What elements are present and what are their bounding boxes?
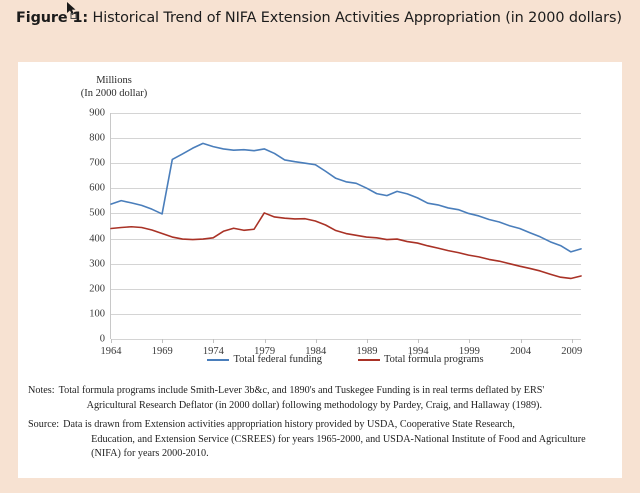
x-axis-tick-mark <box>367 339 368 343</box>
series-line <box>111 143 581 251</box>
figure-panel: Millions (In 2000 dollar) 90080070060050… <box>18 62 622 478</box>
legend-item-label: Total formula programs <box>384 354 484 365</box>
source-label: Source: <box>28 418 59 433</box>
source-line-3: (NIFA) for years 2000-2010. <box>63 447 618 462</box>
notes-block: Notes: Total formula programs include Sm… <box>28 384 618 467</box>
legend-swatch-icon <box>358 359 380 361</box>
x-axis-tick-mark <box>111 339 112 343</box>
x-axis-tick-mark <box>265 339 266 343</box>
plot-area: 9008007006005004003002001000 19641969197… <box>110 113 581 339</box>
notes-line-1: Total formula programs include Smith-Lev… <box>59 385 545 396</box>
line-chart: Millions (In 2000 dollar) 90080070060050… <box>18 62 622 378</box>
y-axis-title: Millions (In 2000 dollar) <box>54 74 174 100</box>
x-axis-tick-mark <box>469 339 470 343</box>
y-axis-tick-label: 0 <box>100 334 105 345</box>
y-axis-title-line1: Millions <box>54 74 174 87</box>
y-axis-tick-label: 100 <box>89 308 105 319</box>
source-row: Source: Data is drawn from Extension act… <box>28 418 618 462</box>
figure-label: Figure 1: <box>16 10 88 26</box>
chart-legend: Total federal fundingTotal formula progr… <box>110 354 581 365</box>
source-text: Data is drawn from Extension activities … <box>63 418 618 462</box>
notes-text: Total formula programs include Smith-Lev… <box>59 384 618 413</box>
x-axis-tick-mark <box>521 339 522 343</box>
y-axis-tick-label: 800 <box>89 133 105 144</box>
notes-row: Notes: Total formula programs include Sm… <box>28 384 618 413</box>
y-axis-tick-label: 500 <box>89 208 105 219</box>
x-axis-tick-mark <box>213 339 214 343</box>
gridline: 0 <box>111 339 581 340</box>
figure-title-text: Historical Trend of NIFA Extension Activ… <box>93 10 622 26</box>
x-axis-tick-mark <box>162 339 163 343</box>
notes-label: Notes: <box>28 384 55 399</box>
y-axis-tick-label: 700 <box>89 158 105 169</box>
figure-title: Figure 1: Historical Trend of NIFA Exten… <box>16 8 628 29</box>
legend-item-label: Total federal funding <box>233 354 321 365</box>
source-line-1: Data is drawn from Extension activities … <box>63 419 515 430</box>
y-axis-tick-label: 400 <box>89 233 105 244</box>
y-axis-tick-label: 300 <box>89 258 105 269</box>
x-axis-tick-mark <box>316 339 317 343</box>
series-line <box>111 213 581 279</box>
y-axis-tick-label: 600 <box>89 183 105 194</box>
series-layer <box>111 113 581 339</box>
y-axis-title-line2: (In 2000 dollar) <box>54 87 174 100</box>
x-axis-tick-mark <box>418 339 419 343</box>
notes-line-2: Agricultural Research Deflator (in 2000 … <box>59 399 618 414</box>
x-axis-tick-mark <box>572 339 573 343</box>
figure-card: Figure 1: Historical Trend of NIFA Exten… <box>0 0 640 493</box>
legend-item[interactable]: Total formula programs <box>358 354 484 365</box>
legend-item[interactable]: Total federal funding <box>207 354 321 365</box>
y-axis-tick-label: 200 <box>89 283 105 294</box>
y-axis-tick-label: 900 <box>89 108 105 119</box>
source-line-2: Education, and Extension Service (CSREES… <box>63 433 618 448</box>
legend-swatch-icon <box>207 359 229 361</box>
